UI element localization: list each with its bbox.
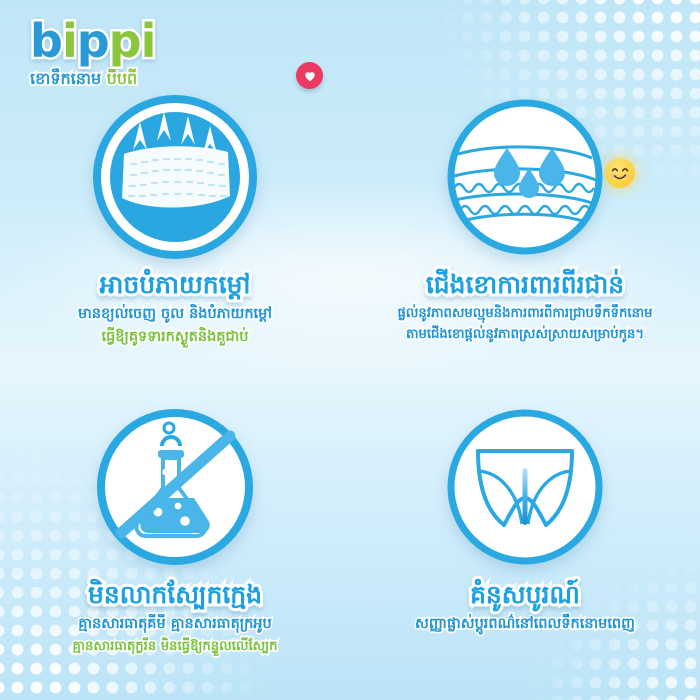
feature-card-breathable[interactable]: អាចបំភាយកម្ដៅ មានខ្យល់ចេញ ចូល និងបំភាយកម… [0, 92, 350, 349]
feature-card-wetness-indicator[interactable]: គំនូសបូរណ៍ សញ្ញាផ្លាស់ប្ដូរពណ៌នៅពេលទឹកនោ… [350, 402, 700, 636]
feature-subline-2: តាមជើងខោផ្តល់នូវភាពស្រស់ស្រាយសម្រាប់កូន។ [360, 324, 690, 345]
feature-headline: គំនូសបូរណ៍ [360, 578, 690, 613]
feature-caption-no-chemicals: មិនលាកស្បែកក្មេង គ្មានសារធាតុគីមី គ្មានស… [0, 578, 350, 657]
feature-card-no-chemicals[interactable]: មិនលាកស្បែកក្មេង គ្មានសារធាតុគីមី គ្មានស… [0, 402, 350, 657]
feature-subline-1: មានខ្យល់ចេញ ចូល និងបំភាយកម្ដៅ [10, 303, 340, 326]
diaper-pants-icon [440, 402, 610, 572]
breathable-fabric-icon [90, 92, 260, 262]
feature-grid: អាចបំភាយកម្ដៅ មានខ្យល់ចេញ ចូល និងបំភាយកម… [0, 0, 700, 700]
feature-subline-2: ធ្វើឱ្យគូទទារកស្ងួតនិងគួជាប់ [10, 326, 340, 349]
feature-caption-breathable: អាចបំភាយកម្ដៅ មានខ្យល់ចេញ ចូល និងបំភាយកម… [0, 268, 350, 349]
feature-caption-wetness-indicator: គំនូសបូរណ៍ សញ្ញាផ្លាស់ប្ដូរពណ៌នៅពេលទឹកនោ… [350, 578, 700, 636]
feature-headline: មិនលាកស្បែកក្មេង [10, 578, 340, 613]
poster-canvas: bippi ខោទឹកនោម បីបពី [0, 0, 700, 700]
feature-subline-1: គ្មានសារធាតុគីមី គ្មានសារធាតុក្រអូប [10, 613, 340, 636]
no-chemicals-flask-icon [90, 402, 260, 572]
feature-card-leg-guard[interactable]: ជើងខោការពារពីរជាន់ ផ្លល់នូវភាពសមល្មុមនិង… [350, 92, 700, 345]
leak-guard-droplet-icon [440, 92, 610, 262]
feature-subline-1: ផ្លល់នូវភាពសមល្មុមនិងការពារពីការជ្រាបទឹក… [360, 303, 690, 324]
feature-caption-leg-guard: ជើងខោការពារពីរជាន់ ផ្លល់នូវភាពសមល្មុមនិង… [350, 268, 700, 345]
feature-headline: ជើងខោការពារពីរជាន់ [360, 268, 690, 303]
feature-subline-2: គ្មានសារធាតុក្លរីន មិនធ្វើឱ្យកន្ទួលលើស្ប… [10, 636, 340, 657]
feature-headline: អាចបំភាយកម្ដៅ [10, 268, 340, 303]
feature-subline-1: សញ្ញាផ្លាស់ប្ដូរពណ៌នៅពេលទឹកនោមពេញ [360, 613, 690, 636]
